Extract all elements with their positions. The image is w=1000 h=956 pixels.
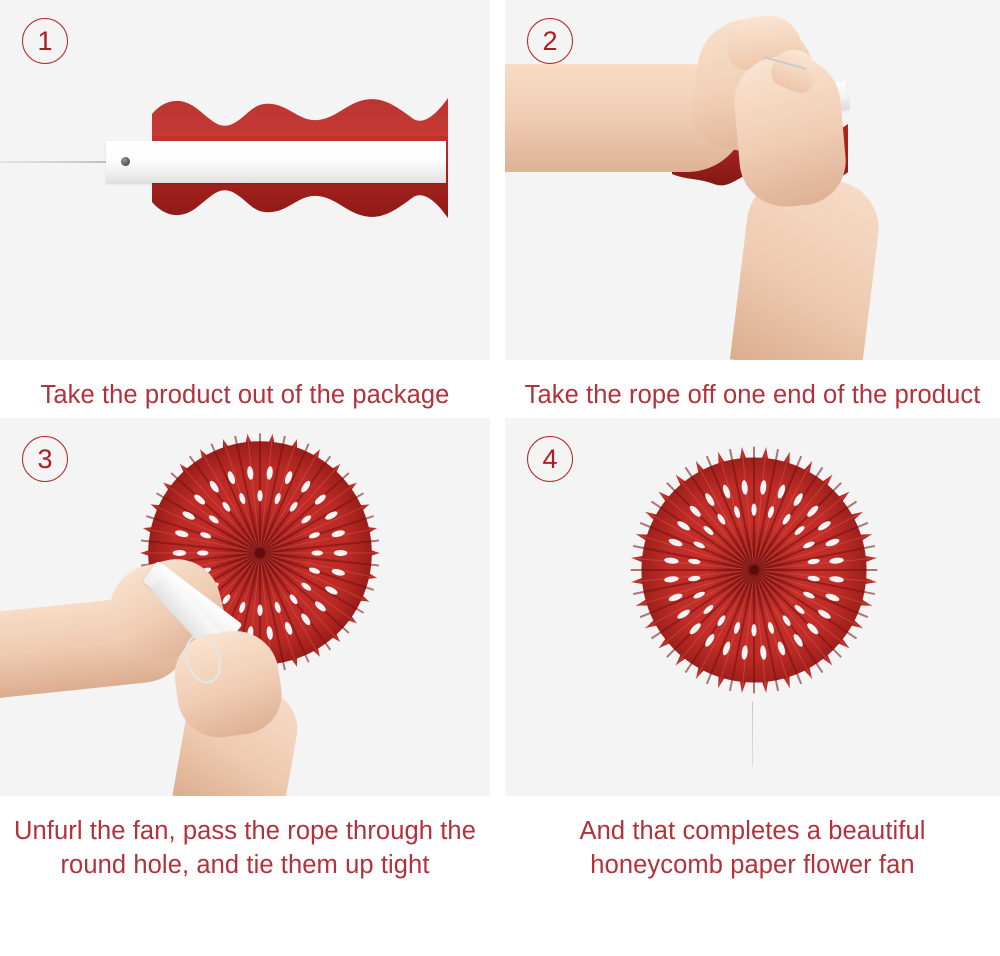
step-cell-1: 1 [0,0,490,418]
product-photo-flat [0,0,490,360]
caption-line-1: Take the product out of the package [41,381,450,409]
hanging-string [752,702,754,766]
caption-line-1: And that completes a beautiful [579,817,925,845]
step-caption-1: Take the product out of the package [0,360,490,418]
step-photo-4: 4 [505,418,1000,796]
step-caption-3: Unfurl the fan, pass the rope through th… [0,796,490,888]
step-caption-2: Take the rope off one end of the product [505,360,1000,418]
caption-line-2: round hole, and tie them up tight [0,848,490,882]
caption-line-1: Unfurl the fan, pass the rope through th… [14,817,476,845]
step-photo-2: 2 [505,0,1000,360]
instruction-sheet: 1 [0,0,1000,956]
round-hole-grommet-icon [121,157,130,166]
step-badge-4: 4 [527,436,573,482]
step-badge-3: 3 [22,436,68,482]
caption-line-1: Take the rope off one end of the product [525,381,981,409]
step-cell-3: 3 [0,418,490,888]
product-string [0,161,112,163]
paper-fan-complete-icon [620,436,888,704]
step-caption-4: And that completes a beautiful honeycomb… [505,796,1000,888]
caption-line-2: honeycomb paper flower fan [505,848,1000,882]
product-photo-rope-removal [505,0,1000,360]
step-badge-2: 2 [527,18,573,64]
step-cell-2: 2 [505,0,1000,418]
steps-grid: 1 [0,0,1000,888]
step-photo-1: 1 [0,0,490,360]
step-cell-4: 4 [505,418,1000,888]
step-photo-3: 3 [0,418,490,796]
product-photo-unfurling [0,418,490,796]
cardboard-strip [106,141,446,183]
step-badge-1: 1 [22,18,68,64]
